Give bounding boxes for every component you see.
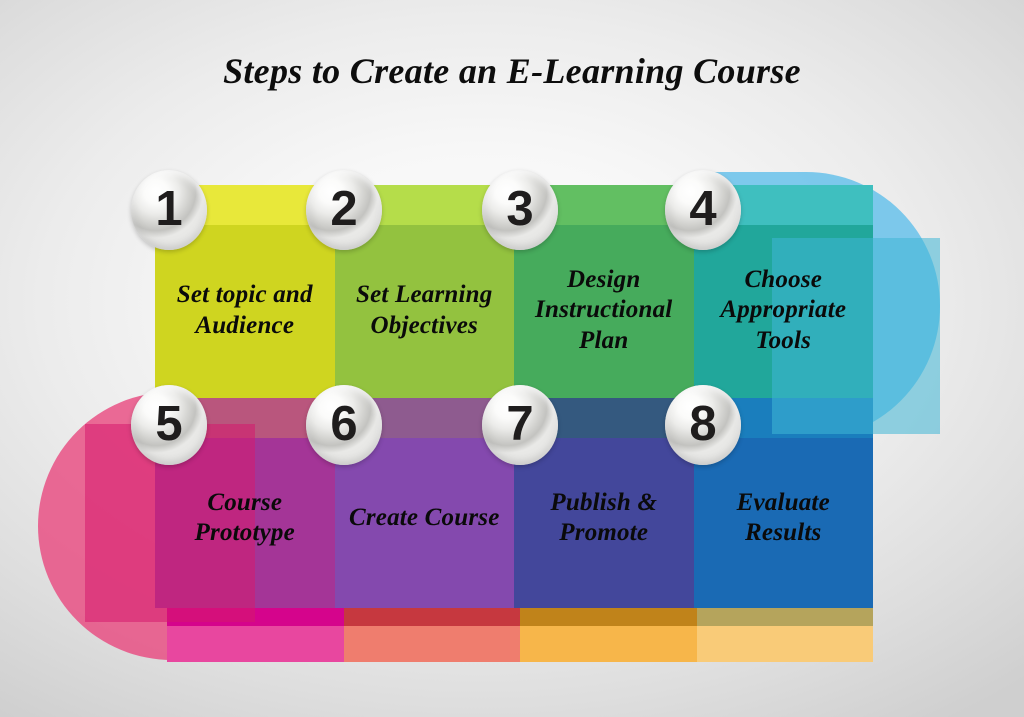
bottom-strip-bottom (167, 626, 344, 662)
step-badge-7[interactable]: 7 (482, 385, 558, 465)
step-label-7: Publish & Promote (514, 488, 694, 549)
step-badge-5[interactable]: 5 (131, 385, 207, 465)
step-label-5: Course Prototype (155, 488, 335, 549)
step-badge-1[interactable]: 1 (131, 170, 207, 250)
step-badge-4[interactable]: 4 (665, 170, 741, 250)
step-number-3: 3 (506, 185, 533, 234)
step-label-1: Set topic and Audience (155, 280, 335, 341)
step-number-5: 5 (155, 400, 182, 449)
step-label-6: Create Course (335, 503, 515, 534)
bottom-strip-bottom (520, 626, 697, 662)
step-badge-6[interactable]: 6 (306, 385, 382, 465)
step-number-2: 2 (330, 185, 357, 234)
page-title: Steps to Create an E-Learning Course (0, 50, 1024, 92)
step-number-7: 7 (506, 400, 533, 449)
step-number-1: 1 (155, 185, 182, 234)
step-label-4: Choose Appropriate Tools (694, 265, 874, 357)
step-number-4: 4 (689, 185, 716, 234)
step-label-2: Set Learning Objectives (335, 280, 515, 341)
step-badge-8[interactable]: 8 (665, 385, 741, 465)
step-number-8: 8 (689, 400, 716, 449)
step-label-3: Design Instructional Plan (514, 265, 694, 357)
bottom-strip-bottom (697, 626, 874, 662)
step-label-8: Evaluate Results (694, 488, 874, 549)
bottom-strip-bottom (344, 626, 521, 662)
step-badge-2[interactable]: 2 (306, 170, 382, 250)
step-badge-3[interactable]: 3 (482, 170, 558, 250)
infographic-canvas: Set topic and Audience Set Learning Obje… (0, 0, 1024, 717)
step-number-6: 6 (330, 400, 357, 449)
